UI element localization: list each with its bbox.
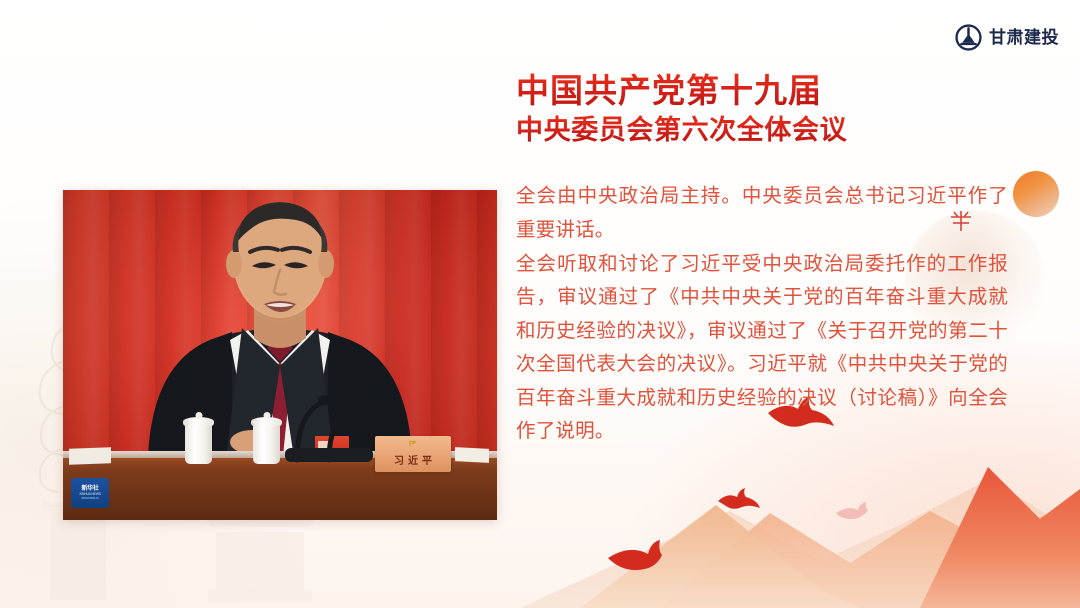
plenary-session-speaker-photo: 习近平 新华社 XINHUA NEWS www.news.cn [63,190,497,520]
nameplate-text: 习近平 [390,457,436,470]
teacup [185,424,212,464]
watermark-line-1: 新华社 [81,486,98,492]
paper-sheet [455,447,489,463]
content-column: 中国共产党第十九届 中央委员会第六次全体会议 全会由中央政治局主持。中央委员会总… [516,72,1008,449]
teacup [253,424,280,464]
body-text: 全会由中央政治局主持。中央委员会总书记习近平作了重要讲话。 全会听取和讨论了习近… [516,180,1008,448]
sun-disc-decoration [1013,171,1059,217]
news-agency-watermark: 新华社 XINHUA NEWS www.news.cn [71,478,109,508]
watermark-line-3: www.news.cn [81,497,98,500]
brand-logo: 甘肃建投 [955,24,1059,51]
nameplate: 习近平 [375,436,451,472]
microphones [281,386,377,464]
presentation-slide: 甘肃建投 [0,0,1080,608]
paper-sheet [69,447,111,464]
page-title-line2: 中央委员会第六次全体会议 [516,113,1008,148]
gansu-jiantou-logo-icon [955,24,982,51]
page-title-line1: 中国共产党第十九届 [516,72,1008,111]
body-paragraph-1: 全会由中央政治局主持。中央委员会总书记习近平作了重要讲话。 [516,180,1008,247]
party-emblem-icon [408,439,418,449]
speaker-figure [130,190,430,458]
brand-name: 甘肃建投 [989,29,1059,46]
body-paragraph-2: 全会听取和讨论了习近平受中央政治局委托作的工作报告，审议通过了《中共中央关于党的… [516,248,1008,449]
